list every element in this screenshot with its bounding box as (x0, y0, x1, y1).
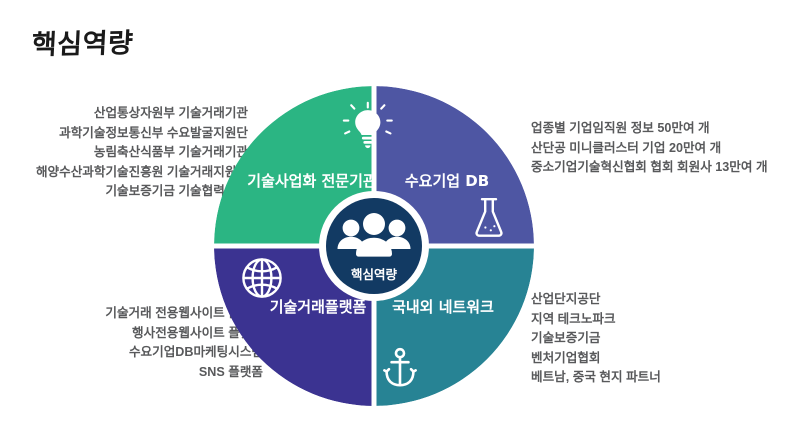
segment-label-demand-company-db: 수요기업 DB (405, 172, 489, 190)
segment-label-tech-trade-platform: 기술거래플랫폼 (270, 298, 367, 316)
text-line: 지역 테크노파크 (531, 310, 661, 330)
text-block-top-right: 업종별 기업임직원 정보 50만여 개산단공 미니클러스터 기업 20만여 개중… (531, 119, 768, 178)
segment-label-tech-commercialization: 기술사업화 전문기관 (247, 172, 377, 190)
text-line: 업종별 기업임직원 정보 50만여 개 (531, 119, 768, 139)
text-line: 산단공 미니클러스터 기업 20만여 개 (531, 139, 768, 159)
center-hub-label: 핵심역량 (351, 267, 398, 282)
text-line: 기술보증기금 (531, 329, 661, 349)
text-line: 벤처기업협회 (531, 349, 661, 369)
text-line: 중소기업기술혁신협회 협회 회원사 13만여 개 (531, 158, 768, 178)
globe-icon (243, 259, 280, 296)
text-line: 베트남, 중국 현지 파트너 (531, 368, 661, 388)
text-line: 산업단지공단 (531, 290, 661, 310)
page-title: 핵심역량 (31, 21, 134, 62)
text-block-bottom-right: 산업단지공단지역 테크노파크기술보증기금벤처기업협회베트남, 중국 현지 파트너 (531, 290, 661, 388)
core-competency-pinwheel-diagram: 기술사업화 전문기관 수요기업 DB 기술거래플랫폼 국내외 네트워크 (214, 86, 534, 406)
segment-label-domestic-overseas-network: 국내외 네트워크 (392, 298, 494, 316)
